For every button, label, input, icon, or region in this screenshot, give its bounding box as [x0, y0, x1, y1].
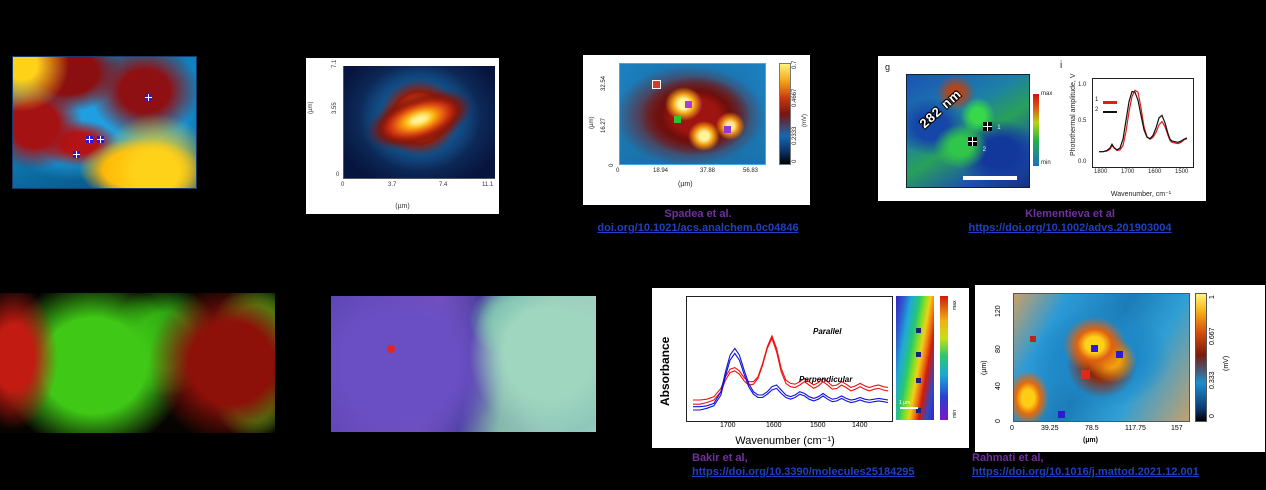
series-label-parallel: Parallel	[813, 327, 841, 336]
bakir-polarised-spectra-panel: Parallel Perpendicular Absorbance 1700 1…	[652, 288, 969, 448]
rahmati-heatmap	[1013, 293, 1190, 422]
sample-point	[916, 378, 921, 383]
legend-line-1	[1103, 101, 1117, 104]
p8-ytick-0: 0	[995, 419, 1002, 423]
p2-ytick-1: 3.55	[332, 102, 338, 114]
sample-point	[916, 328, 921, 333]
p3-xtick-2: 37.88	[700, 168, 715, 174]
p2-xtick-3: 11.1	[482, 182, 493, 188]
p3-xtick-3: 56.83	[743, 168, 758, 174]
p4-xtick-3: 1600	[1148, 169, 1161, 175]
nano-ir-amyloid-map: 282 nm 1 2	[906, 74, 1030, 188]
p8-cbar-tick-3: 1	[1209, 295, 1216, 299]
marker-violet	[724, 126, 731, 133]
p3-ytick-1: 16.27	[601, 118, 607, 133]
p8-xtick-4: 157	[1171, 425, 1183, 432]
crosshair-marker	[97, 136, 104, 143]
spadea-colorbar	[779, 63, 791, 165]
spadea-heatmap	[619, 63, 766, 165]
fibril-colorbar-min: min	[952, 410, 958, 418]
legend-line-2	[1103, 111, 1117, 113]
afm-ir-heatmap	[344, 66, 495, 178]
p4-chart-ylabel: Photothermal amplitude, V	[1070, 74, 1077, 157]
p2-xtick-0: 0	[341, 182, 344, 188]
caption-rahmati-doi[interactable]: https://doi.org/10.1016/j.mattod.2021.12…	[972, 466, 1266, 480]
g-colorbar-max: max	[1041, 91, 1052, 97]
p3-xlabel: (µm)	[678, 181, 693, 188]
p2-xtick-1: 3.7	[388, 182, 396, 188]
afm-ir-single-cell-panel: 7.1 3.55 0 (µm) 0 3.7 7.4 11.1 (µm)	[306, 58, 499, 214]
caption-klementieva-doi[interactable]: https://doi.org/10.1002/advs.201903004	[920, 222, 1220, 236]
marker-red	[652, 80, 661, 89]
p8-xlabel: (µm)	[1083, 437, 1098, 444]
absorbance-plot-svg	[687, 297, 892, 421]
p2-ytick-2: 7.1	[332, 60, 338, 68]
p8-ytick-3: 120	[995, 305, 1002, 317]
p4-chart-xlabel: Wavenumber, cm⁻¹	[1086, 190, 1196, 198]
multicolour-tissue-image	[331, 296, 596, 432]
sample-point	[916, 352, 921, 357]
p7-xtick-3: 1400	[852, 422, 868, 429]
spadea-ir-map-panel: (µm) 32.54 16.27 0 0 18.94 37.88 56.83 (…	[583, 55, 810, 205]
caption-rahmati-author: Rahmati et al,	[972, 452, 1266, 466]
p8-xtick-1: 39.25	[1041, 425, 1059, 432]
p2-ytick-0: 0	[336, 172, 339, 178]
p3-ytick-2: 32.54	[601, 76, 607, 91]
scale-bar-label: 1 µm	[899, 400, 910, 406]
crosshair-marker	[145, 94, 152, 101]
legend-label-1: 1	[1095, 97, 1098, 103]
p3-ylabel: (µm)	[589, 117, 595, 129]
scale-bar	[963, 176, 1017, 180]
p8-xtick-3: 117.75	[1125, 425, 1146, 432]
hot-spot-blob	[360, 80, 479, 160]
crosshair-marker	[73, 151, 80, 158]
p4-ytick-2: 1.0	[1078, 82, 1086, 88]
fibril-colorbar-max: max	[952, 301, 958, 310]
marker-red-large	[1081, 370, 1090, 379]
rahmati-ir-map-panel: (µm) 120 80 40 0 0 39.25 78.5 117.75 157…	[975, 285, 1265, 452]
marker-blue	[1116, 351, 1123, 358]
p3-cbar-tick-3: 0.7	[792, 61, 798, 69]
marker-2	[968, 137, 977, 146]
klementieva-panel: g i 282 nm 1 2 max min 1 2 Photothermal …	[878, 56, 1206, 201]
photothermal-chart-svg	[1093, 79, 1193, 167]
p7-xtick-0: 1700	[720, 422, 736, 429]
caption-spadea-author: Spadea et al.	[578, 208, 818, 222]
subpanel-label-i: i	[1060, 60, 1062, 71]
p7-xtick-2: 1500	[810, 422, 826, 429]
p8-cbar-tick-1: 0.333	[1209, 371, 1216, 389]
fibril-colorbar	[940, 296, 948, 420]
p7-xlabel: Wavenumber (cm⁻¹)	[672, 434, 898, 447]
marker-blue	[1058, 411, 1065, 418]
p8-xtick-2: 78.5	[1085, 425, 1099, 432]
p3-cbar-tick-0: 0	[792, 160, 798, 163]
series-label-perpendicular: Perpendicular	[799, 375, 852, 384]
p8-xtick-0: 0	[1010, 425, 1014, 432]
crosshair-marker	[86, 136, 93, 143]
marker-1	[983, 122, 992, 131]
fibril-map: 1 µm	[896, 296, 934, 420]
ir-chemical-map-panel	[12, 56, 197, 189]
legend-label-2: 2	[1095, 107, 1098, 113]
p8-cbar-label: (mV)	[1223, 356, 1230, 371]
scale-annotation-282nm: 282 nm	[917, 86, 965, 131]
marker-red	[1030, 336, 1036, 342]
caption-rahmati: Rahmati et al, https://doi.org/10.1016/j…	[972, 452, 1266, 480]
caption-bakir: Bakir et al, https://doi.org/10.3390/mol…	[692, 452, 982, 480]
g-colorbar	[1033, 94, 1039, 166]
caption-spadea: Spadea et al. doi.org/10.1021/acs.analch…	[578, 208, 818, 236]
p4-ytick-1: 0.5	[1078, 118, 1086, 124]
p3-xtick-0: 0	[616, 168, 619, 174]
p2-xlabel: (µm)	[306, 203, 499, 210]
p7-ylabel: Absorbance	[658, 337, 672, 406]
p4-ytick-0: 0.0	[1078, 159, 1086, 165]
p3-xtick-1: 18.94	[653, 168, 668, 174]
caption-klementieva-author: Klementieva et al	[920, 208, 1220, 222]
g-colorbar-min: min	[1041, 160, 1051, 166]
marker-2-label: 2	[983, 147, 986, 153]
p8-cbar-tick-0: 0	[1209, 414, 1216, 418]
p7-xtick-1: 1600	[766, 422, 782, 429]
marker-green	[674, 116, 681, 123]
p3-cbar-tick-2: 0.4667	[792, 89, 798, 107]
p8-cbar-tick-2: 0.667	[1209, 327, 1216, 345]
marker-purple	[685, 101, 692, 108]
p2-ylabel: (µm)	[308, 102, 314, 114]
p4-xtick-4: 1500	[1175, 169, 1188, 175]
caption-klementieva: Klementieva et al https://doi.org/10.100…	[920, 208, 1220, 236]
scale-bar	[900, 407, 918, 409]
p3-cbar-tick-1: 0.2333	[792, 127, 798, 145]
marker-1-label: 1	[997, 125, 1000, 131]
rahmati-colorbar	[1195, 293, 1207, 422]
p4-xtick-2: 1700	[1121, 169, 1134, 175]
red-feature-dot	[387, 345, 395, 353]
p8-ytick-2: 80	[995, 345, 1002, 353]
p3-cbar-label: (mV)	[802, 114, 808, 127]
p2-xtick-2: 7.4	[439, 182, 447, 188]
caption-spadea-doi[interactable]: doi.org/10.1021/acs.analchem.0c04846	[578, 222, 818, 236]
subpanel-label-g: g	[885, 62, 890, 72]
fluorescence-tissue-image	[0, 293, 275, 433]
p4-xtick-1: 1800	[1094, 169, 1107, 175]
absorbance-plot-box: Parallel Perpendicular	[686, 296, 893, 422]
p8-ylabel: (µm)	[981, 360, 988, 375]
marker-blue	[1091, 345, 1098, 352]
p3-ytick-0: 0	[609, 164, 615, 167]
caption-bakir-doi[interactable]: https://doi.org/10.3390/molecules2518429…	[692, 466, 982, 480]
photothermal-chart: 1 2	[1092, 78, 1194, 168]
p8-ytick-1: 40	[995, 382, 1002, 390]
caption-bakir-author: Bakir et al,	[692, 452, 982, 466]
